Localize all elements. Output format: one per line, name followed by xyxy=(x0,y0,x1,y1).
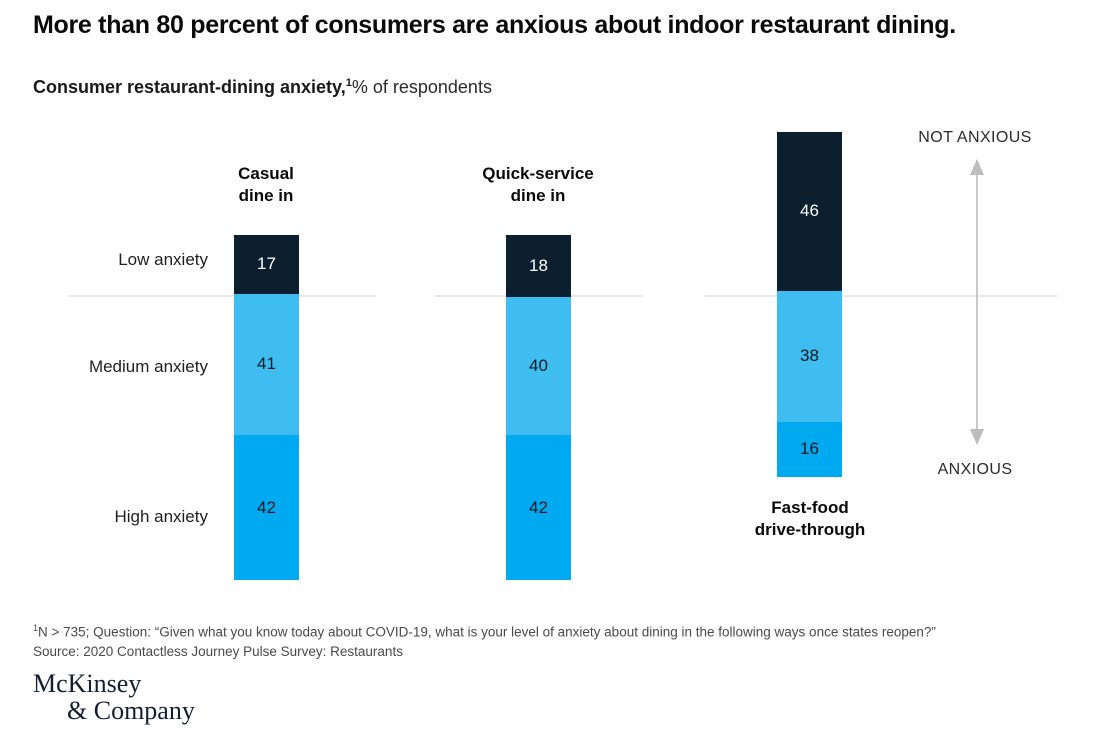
double-headed-vertical-arrow-icon xyxy=(962,157,992,447)
row-label-low-anxiety-text: Low anxiety xyxy=(118,250,208,269)
footnote-line-2: Source: 2020 Contactless Journey Pulse S… xyxy=(33,642,936,661)
bar-value-quick-service-medium-anxiety: 40 xyxy=(506,356,571,376)
column-header-quick-service-line2: dine in xyxy=(511,186,566,205)
footnotes: 1N > 735; Question: “Given what you know… xyxy=(33,619,936,661)
bar-segment-quick-service-high-anxiety[interactable]: 42 xyxy=(506,435,571,580)
row-label-high-anxiety-text: High anxiety xyxy=(114,507,208,526)
bar-value-fast-food-high-anxiety: 16 xyxy=(777,439,842,459)
row-label-medium-anxiety-text: Medium anxiety xyxy=(89,357,208,376)
bar-value-quick-service-high-anxiety: 42 xyxy=(506,498,571,518)
bar-segment-fast-food-high-anxiety[interactable]: 16 xyxy=(777,422,842,477)
zero-gridline-segment-1 xyxy=(68,295,376,297)
scale-pole-label-top: NOT ANXIOUS xyxy=(865,129,1085,147)
bar-segment-fast-food-low-anxiety[interactable]: 46 xyxy=(777,132,842,291)
bar-segment-quick-service-medium-anxiety[interactable]: 40 xyxy=(506,297,571,435)
bar-value-fast-food-medium-anxiety: 38 xyxy=(777,346,842,366)
column-header-fast-food-line1: Fast-food xyxy=(771,498,848,517)
column-header-quick-service-line1: Quick-service xyxy=(482,164,594,183)
bar-stack-casual-dine-in[interactable]: 17 41 42 xyxy=(234,235,299,580)
bar-segment-casual-high-anxiety[interactable]: 42 xyxy=(234,435,299,580)
column-header-quick-service-dine-in: Quick-service dine in xyxy=(438,163,638,207)
column-header-casual-dine-in: Casual dine in xyxy=(166,163,366,207)
bar-value-casual-low-anxiety: 17 xyxy=(234,254,299,274)
mckinsey-logo: McKinsey & Company xyxy=(33,670,195,724)
bar-segment-quick-service-low-anxiety[interactable]: 18 xyxy=(506,235,571,297)
row-label-high-anxiety: High anxiety xyxy=(114,507,208,527)
column-header-fast-food-line2: drive-through xyxy=(755,520,866,539)
column-header-casual-line1: Casual xyxy=(238,164,294,183)
bar-segment-fast-food-medium-anxiety[interactable]: 38 xyxy=(777,291,842,422)
column-header-casual-line2: dine in xyxy=(239,186,294,205)
bar-segment-casual-medium-anxiety[interactable]: 41 xyxy=(234,294,299,435)
bar-segment-casual-low-anxiety[interactable]: 17 xyxy=(234,235,299,294)
scale-pole-label-bottom: ANXIOUS xyxy=(865,461,1085,479)
row-label-medium-anxiety: Medium anxiety xyxy=(89,357,208,377)
bar-value-casual-medium-anxiety: 41 xyxy=(234,354,299,374)
row-label-low-anxiety: Low anxiety xyxy=(118,250,208,270)
footnote-line-1: 1N > 735; Question: “Given what you know… xyxy=(33,619,936,642)
footnote-line-1-text: N > 735; Question: “Given what you know … xyxy=(38,625,936,640)
bar-stack-quick-service-dine-in[interactable]: 18 40 42 xyxy=(506,235,571,580)
bar-stack-fast-food-drive-through[interactable]: 46 38 16 xyxy=(777,132,842,477)
column-header-fast-food-drive-through: Fast-food drive-through xyxy=(710,497,910,541)
bar-value-quick-service-low-anxiety: 18 xyxy=(506,256,571,276)
zero-gridline-segment-3 xyxy=(705,295,1057,297)
bar-value-fast-food-low-anxiety: 46 xyxy=(777,201,842,221)
mckinsey-logo-line2: & Company xyxy=(33,697,195,724)
mckinsey-logo-line1: McKinsey xyxy=(33,669,141,698)
bar-value-casual-high-anxiety: 42 xyxy=(234,498,299,518)
